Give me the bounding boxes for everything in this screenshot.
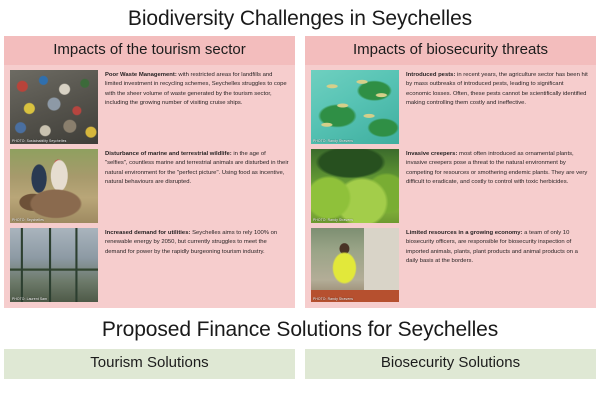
impact-lead: Limited resources in a growing economy: <box>406 230 523 236</box>
impact-text: Poor Waste Management: with restricted a… <box>105 70 289 109</box>
impact-item: PHOTO: Sustainability Seychelles Poor Wa… <box>10 70 289 144</box>
challenges-section: Impacts of the tourism sector PHOTO: Sus… <box>0 36 600 308</box>
impact-lead: Disturbance of marine and terrestrial wi… <box>105 151 232 157</box>
photo-credit: PHOTO: Seychelles <box>12 218 96 222</box>
impact-item: PHOTO: Seychelles Disturbance of marine … <box>10 149 289 223</box>
impact-text: Invasive creepers: most often introduced… <box>406 149 590 188</box>
giant-tortoise-photo: PHOTO: Seychelles <box>10 149 98 223</box>
leaf-pests-photo: PHOTO: Randy Stravens <box>311 70 399 144</box>
impact-lead: Increased demand for utilities: <box>105 230 190 236</box>
impact-item: PHOTO: Randy Stravens Limited resources … <box>311 228 590 302</box>
panel-tourism-solutions: Tourism Solutions <box>4 349 295 380</box>
impact-lead: Introduced pests: <box>406 72 455 78</box>
impact-text: Increased demand for utilities: Seychell… <box>105 228 289 258</box>
landfill-waste-photo: PHOTO: Sustainability Seychelles <box>10 70 98 144</box>
impact-lead: Poor Waste Management: <box>105 72 177 78</box>
photo-credit: PHOTO: Randy Stravens <box>313 297 397 301</box>
panel-tourism-impacts: Impacts of the tourism sector PHOTO: Sus… <box>4 36 295 308</box>
impact-item: PHOTO: Laurent Sam Increased demand for … <box>10 228 289 302</box>
panel-biosecurity-solutions: Biosecurity Solutions <box>305 349 596 380</box>
infographic-root: Biodiversity Challenges in Seychelles Im… <box>0 0 600 379</box>
impact-text: Limited resources in a growing economy: … <box>406 228 590 267</box>
photo-credit: PHOTO: Randy Stravens <box>313 218 397 222</box>
solutions-section: Tourism Solutions Biosecurity Solutions <box>0 349 600 380</box>
panel-biosecurity-header: Impacts of biosecurity threats <box>305 36 596 65</box>
impact-item: PHOTO: Randy Stravens Introduced pests: … <box>311 70 590 144</box>
page-title: Biodiversity Challenges in Seychelles <box>0 0 600 36</box>
impact-text: Disturbance of marine and terrestrial wi… <box>105 149 289 188</box>
panel-tourism-body: PHOTO: Sustainability Seychelles Poor Wa… <box>4 65 295 308</box>
panel-tourism-header: Impacts of the tourism sector <box>4 36 295 65</box>
impact-lead: Invasive creepers: <box>406 151 457 157</box>
photo-credit: PHOTO: Sustainability Seychelles <box>12 139 96 143</box>
solutions-title: Proposed Finance Solutions for Seychelle… <box>0 308 600 349</box>
tourism-solutions-header: Tourism Solutions <box>4 349 295 380</box>
panel-biosecurity-body: PHOTO: Randy Stravens Introduced pests: … <box>305 65 596 308</box>
panel-biosecurity-impacts: Impacts of biosecurity threats PHOTO: Ra… <box>305 36 596 308</box>
photo-credit: PHOTO: Laurent Sam <box>12 297 96 301</box>
photo-credit: PHOTO: Randy Stravens <box>313 139 397 143</box>
biosecurity-officer-photo: PHOTO: Randy Stravens <box>311 228 399 302</box>
impact-item: PHOTO: Randy Stravens Invasive creepers:… <box>311 149 590 223</box>
biosecurity-solutions-header: Biosecurity Solutions <box>305 349 596 380</box>
power-infrastructure-photo: PHOTO: Laurent Sam <box>10 228 98 302</box>
impact-text: Introduced pests: in recent years, the a… <box>406 70 590 109</box>
invasive-creeper-photo: PHOTO: Randy Stravens <box>311 149 399 223</box>
